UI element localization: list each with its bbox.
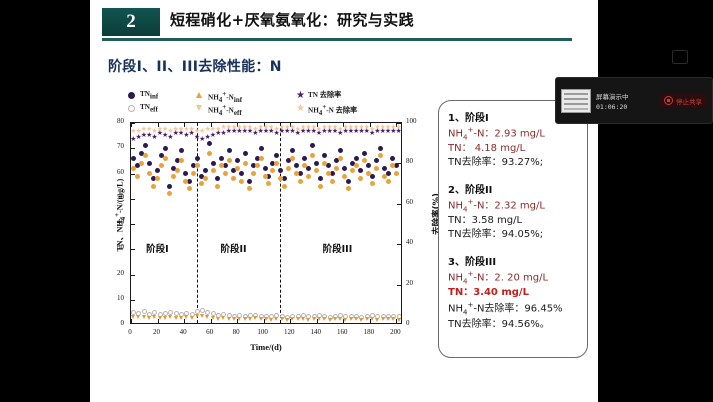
slide-header: 2 短程硝化+厌氧氨氧化：研究与实践 [94, 6, 594, 40]
data-point [187, 186, 192, 191]
data-point [266, 181, 271, 186]
data-point [235, 158, 240, 163]
card-stat-line: NH4+-N去除率：96.45% [448, 301, 581, 317]
data-point [221, 316, 225, 320]
y2-tick-label: 100 [406, 117, 428, 125]
x-tick-label: 0 [118, 328, 142, 336]
y-tick-label: 0 [102, 319, 124, 327]
data-point [237, 317, 241, 321]
data-point [235, 166, 240, 171]
data-point [168, 310, 173, 315]
data-point [358, 176, 363, 181]
data-point [168, 315, 172, 319]
stop-icon [664, 96, 673, 105]
chart-legend: TNinfNH4+-Ninf★TN 去除率TNeffNH4+-Neff★NH4+… [128, 90, 434, 120]
axis-tick [131, 199, 135, 200]
card-stat-line: TN： 4.18 mg/L [448, 143, 581, 156]
data-point [397, 318, 401, 322]
axis-tick [397, 204, 401, 205]
data-point [219, 156, 224, 161]
card-stat-line: TN：3.58 mg/L [448, 215, 581, 228]
data-point [167, 191, 172, 196]
page-title: 阶段I、II、III去除性能：N [108, 56, 282, 76]
data-point [328, 318, 332, 322]
card-stat-line: TN去除率：93.27%; [448, 157, 581, 170]
axis-tick [397, 244, 401, 245]
data-point [179, 158, 184, 163]
data-point [232, 317, 236, 321]
data-point [270, 168, 275, 173]
data-point [269, 318, 273, 322]
data-point [326, 163, 331, 168]
axis-tick [131, 148, 135, 149]
data-point [346, 179, 351, 184]
data-point [390, 156, 395, 161]
data-point [139, 161, 144, 166]
data-point [386, 179, 391, 184]
phase-label: 阶段I [146, 241, 169, 255]
data-point [253, 316, 257, 320]
data-point [322, 317, 326, 321]
legend-label: NH4+-Ninf [208, 90, 242, 104]
axis-tick [131, 300, 135, 301]
data-point [306, 166, 311, 171]
x-tick-label: 20 [145, 328, 169, 336]
data-point [312, 317, 316, 321]
data-point [227, 148, 232, 153]
card-stat-line: TN：3.40 mg/L [448, 287, 581, 300]
data-point [239, 171, 244, 176]
data-point [211, 168, 216, 173]
data-point [195, 156, 200, 161]
data-point: ★ [396, 124, 402, 131]
data-point [378, 146, 383, 151]
data-point [231, 176, 236, 181]
x-tick-label: 120 [277, 328, 301, 336]
chart-figure: TNinfNH4+-Ninf★TN 去除率TNeffNH4+-Neff★NH4+… [98, 90, 434, 370]
data-point [349, 317, 353, 321]
data-point [296, 317, 300, 321]
data-point [131, 156, 136, 161]
data-point [142, 309, 147, 314]
data-point [190, 316, 194, 320]
data-point [280, 317, 284, 321]
data-point [131, 315, 135, 319]
data-point [247, 186, 252, 191]
axis-tick [397, 285, 401, 286]
data-point [278, 168, 283, 173]
card-block-spacer [448, 171, 581, 180]
data-point [179, 148, 184, 153]
x-tick-label: 100 [251, 328, 275, 336]
screen-root: 2 短程硝化+厌氧氨氧化：研究与实践 阶段I、II、III去除性能：N TNin… [0, 0, 713, 402]
legend-label: NH4+-Neff [208, 103, 242, 117]
data-point [255, 163, 260, 168]
data-point [290, 148, 295, 153]
card-stat-line: NH4+-N：2. 20 mg/L [448, 270, 581, 286]
data-point [358, 168, 363, 173]
x-axis-title: Time/(d) [130, 342, 402, 352]
stop-share-button[interactable]: 停止共享 [659, 94, 707, 108]
axis-tick [131, 224, 135, 225]
x-tick-label: 160 [330, 328, 354, 336]
data-point [159, 163, 164, 168]
card-stat-line: NH4+-N：2.32 mg/L [448, 198, 581, 214]
data-point [378, 153, 383, 158]
legend-marker-star-purple: ★ [296, 92, 303, 99]
data-point [318, 176, 323, 181]
data-point [203, 176, 208, 181]
data-point [302, 156, 307, 161]
data-point [143, 143, 148, 148]
data-point [314, 168, 319, 173]
axis-tick [131, 123, 132, 127]
phase-divider [197, 123, 198, 323]
data-point [259, 146, 264, 151]
data-point [131, 166, 136, 171]
data-point [338, 317, 342, 321]
data-point [158, 316, 162, 320]
data-point [155, 168, 160, 173]
letterbox-right [598, 0, 713, 402]
data-point [205, 315, 209, 319]
card-block-spacer [448, 243, 581, 252]
data-point [195, 314, 199, 318]
data-point [290, 156, 295, 161]
data-point [191, 171, 196, 176]
phase-label: 阶段III [323, 241, 353, 255]
data-point [155, 176, 160, 181]
data-point [263, 174, 268, 179]
data-point [174, 316, 178, 320]
data-point [171, 174, 176, 179]
y-axis-left-title: TN、NH4+-N/(mg/L) [113, 135, 127, 295]
share-timer: 01:06:20 [596, 103, 629, 111]
data-point [338, 156, 343, 161]
data-point [183, 171, 188, 176]
y2-tick-label: 80 [406, 157, 428, 165]
data-point [135, 174, 140, 179]
data-point [318, 184, 323, 189]
data-point [374, 158, 379, 163]
data-point [290, 317, 294, 321]
data-point [282, 184, 287, 189]
data-point [342, 174, 347, 179]
window-corner-icon[interactable] [672, 50, 688, 64]
x-tick-label: 180 [357, 328, 381, 336]
y2-tick-label: 60 [406, 198, 428, 206]
data-point [184, 315, 188, 319]
header-underline [102, 38, 572, 41]
data-point [219, 163, 224, 168]
data-point [386, 317, 390, 321]
data-point [314, 161, 319, 166]
data-point [375, 318, 379, 322]
letterbox-left [0, 0, 90, 402]
data-point [147, 316, 151, 320]
data-point [354, 317, 358, 321]
axis-tick [184, 319, 185, 323]
summary-info-card: 1、阶段INH4+-N：2.93 mg/LTN： 4.18 mg/LTN去除率：… [438, 100, 588, 358]
data-point [163, 316, 167, 320]
data-point [243, 151, 248, 156]
data-point [354, 156, 359, 161]
data-point [200, 308, 205, 313]
data-point [310, 153, 315, 158]
data-point [216, 317, 220, 321]
data-point [286, 166, 291, 171]
data-point [343, 318, 347, 322]
data-point [207, 151, 212, 156]
data-point [195, 309, 200, 314]
data-point [306, 318, 310, 322]
slide-header-title: 短程硝化+厌氧氨氧化：研究与实践 [170, 9, 414, 30]
data-point [390, 163, 395, 168]
data-point [203, 168, 208, 173]
x-tick-label: 40 [171, 328, 195, 336]
data-point [227, 158, 232, 163]
data-point [211, 161, 216, 166]
data-point [215, 176, 220, 181]
phase-divider [280, 123, 281, 323]
data-point [366, 171, 371, 176]
legend-marker-filled-circle-dark [128, 92, 135, 99]
data-point [382, 166, 387, 171]
legend-label: TNinf [140, 90, 158, 100]
data-point [366, 163, 371, 168]
x-tick-label: 140 [304, 328, 328, 336]
legend-label: TN 去除率 [308, 90, 341, 100]
y-tick-label: 80 [102, 117, 124, 125]
stop-share-label: 停止共享 [676, 96, 702, 106]
card-stat-line: NH4+-N：2.93 mg/L [448, 126, 581, 142]
data-point [227, 317, 231, 321]
phase-label: 阶段II [220, 241, 246, 255]
legend-label: TNeff [140, 103, 158, 113]
data-point [263, 166, 268, 171]
data-point [195, 163, 200, 168]
axis-tick [131, 249, 135, 250]
data-point [183, 179, 188, 184]
data-point [334, 166, 339, 171]
data-point [362, 151, 367, 156]
data-point [346, 186, 351, 191]
data-point [294, 163, 299, 168]
data-point [223, 171, 228, 176]
data-point [310, 143, 315, 148]
data-point [370, 181, 375, 186]
data-point [151, 184, 156, 189]
data-point [163, 146, 168, 151]
data-point [243, 161, 248, 166]
y2-tick-label: 0 [406, 319, 428, 327]
data-point [330, 179, 335, 184]
data-point [215, 184, 220, 189]
data-point [282, 176, 287, 181]
data-point [394, 171, 399, 176]
data-point [342, 166, 347, 171]
data-point [381, 317, 385, 321]
data-point [207, 141, 212, 146]
data-point [365, 317, 369, 321]
card-stat-line: TN去除率：94.05%; [448, 229, 581, 242]
data-point [248, 317, 252, 321]
data-point [301, 317, 305, 321]
data-point [370, 317, 374, 321]
data-point [317, 317, 321, 321]
data-point [274, 317, 278, 321]
data-point [391, 317, 395, 321]
y2-tick-label: 20 [406, 279, 428, 287]
data-point [211, 316, 215, 320]
data-point [239, 179, 244, 184]
data-point [251, 171, 256, 176]
shared-screen-thumbnail [561, 89, 591, 113]
legend-marker-star-tan: ★ [296, 105, 303, 112]
data-point [147, 171, 152, 176]
legend-label: NH4+-N 去除率 [308, 103, 357, 117]
data-point [298, 171, 303, 176]
card-stat-line: TN去除率：94.56%。 [448, 319, 581, 332]
slide-number-badge: 2 [102, 8, 160, 36]
card-block-heading: 3、阶段III [448, 253, 581, 268]
data-point [322, 153, 327, 158]
data-point [338, 148, 343, 153]
presentation-slide: 2 短程硝化+厌氧氨氧化：研究与实践 阶段I、II、III去除性能：N TNin… [90, 0, 598, 402]
data-point [179, 316, 183, 320]
data-point [350, 168, 355, 173]
x-tick-label: 60 [198, 328, 222, 336]
y2-tick-label: 40 [406, 238, 428, 246]
data-point [136, 315, 140, 319]
data-point [259, 156, 264, 161]
data-point [243, 317, 247, 321]
data-point [200, 314, 204, 318]
share-status-label: 屏幕演示中 [596, 91, 629, 101]
legend-marker-hollow-circle [128, 105, 135, 112]
data-point [199, 181, 204, 186]
data-point [382, 174, 387, 179]
data-point [285, 318, 289, 322]
x-tick-label: 200 [383, 328, 407, 336]
data-point [247, 179, 252, 184]
data-point [142, 315, 146, 319]
data-point [259, 317, 263, 321]
data-point [359, 318, 363, 322]
share-status-text: 屏幕演示中 01:06:20 [596, 91, 629, 111]
data-point [147, 161, 152, 166]
data-point [167, 184, 172, 189]
data-point [143, 153, 148, 158]
data-point [298, 179, 303, 184]
card-block-heading: 2、阶段II [448, 181, 581, 196]
axis-tick [131, 275, 135, 276]
screen-share-overlay[interactable]: 屏幕演示中 01:06:20 停止共享 [555, 77, 713, 124]
data-point [333, 317, 337, 321]
data-point [306, 174, 311, 179]
x-tick-label: 80 [224, 328, 248, 336]
data-point [152, 315, 156, 319]
data-point [264, 317, 268, 321]
legend-marker-triangle-down-tan [196, 105, 202, 111]
chart-plot-area: 阶段I阶段II阶段III★★★★★★★★★★★★★★★★★★★★★★★★★★★★… [130, 122, 402, 324]
data-point [175, 168, 180, 173]
legend-marker-triangle-up-orange [196, 92, 202, 98]
axis-tick [131, 319, 132, 323]
data-point [374, 166, 379, 171]
data-point [163, 156, 168, 161]
